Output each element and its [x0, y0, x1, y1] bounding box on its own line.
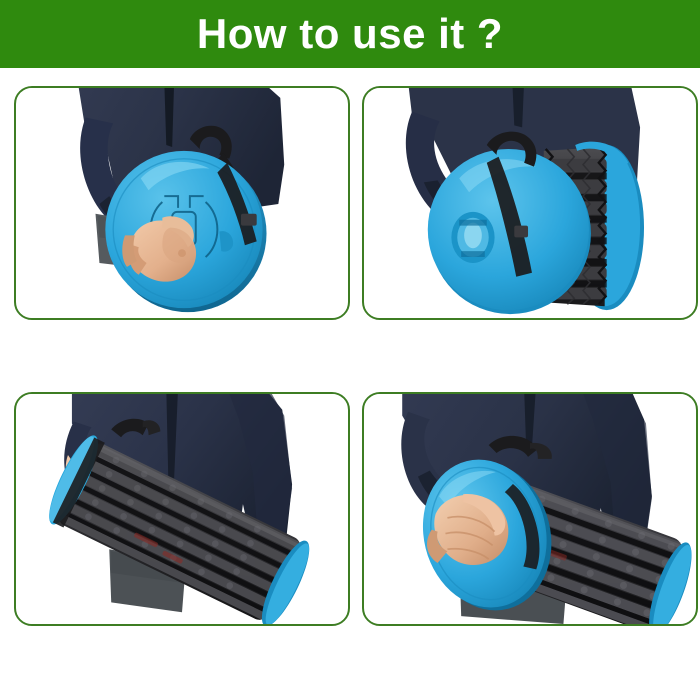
step-3-caption: Step 3:stretch to your desired height [14, 639, 350, 700]
step-3-photo-stretch-height [14, 392, 350, 626]
step-4-photo-rotate-counterclockwise [362, 392, 698, 626]
page-title: How to use it ? [197, 13, 503, 55]
infographic-page: How to use it ? [0, 0, 700, 700]
header-banner: How to use it ? [0, 0, 700, 68]
step-1-photo-folded-stool-unlock [14, 86, 350, 320]
step-card-4: Step 4:rotate the fixed position counter… [362, 392, 698, 700]
step-2-photo-hands-in-grooves [362, 86, 698, 320]
step-4-caption: Step 4:rotate the fixed position counter… [362, 639, 698, 700]
step-card-3: Step 3:stretch to your desired height [14, 392, 350, 700]
steps-grid: Step 1:unlock [0, 68, 700, 700]
